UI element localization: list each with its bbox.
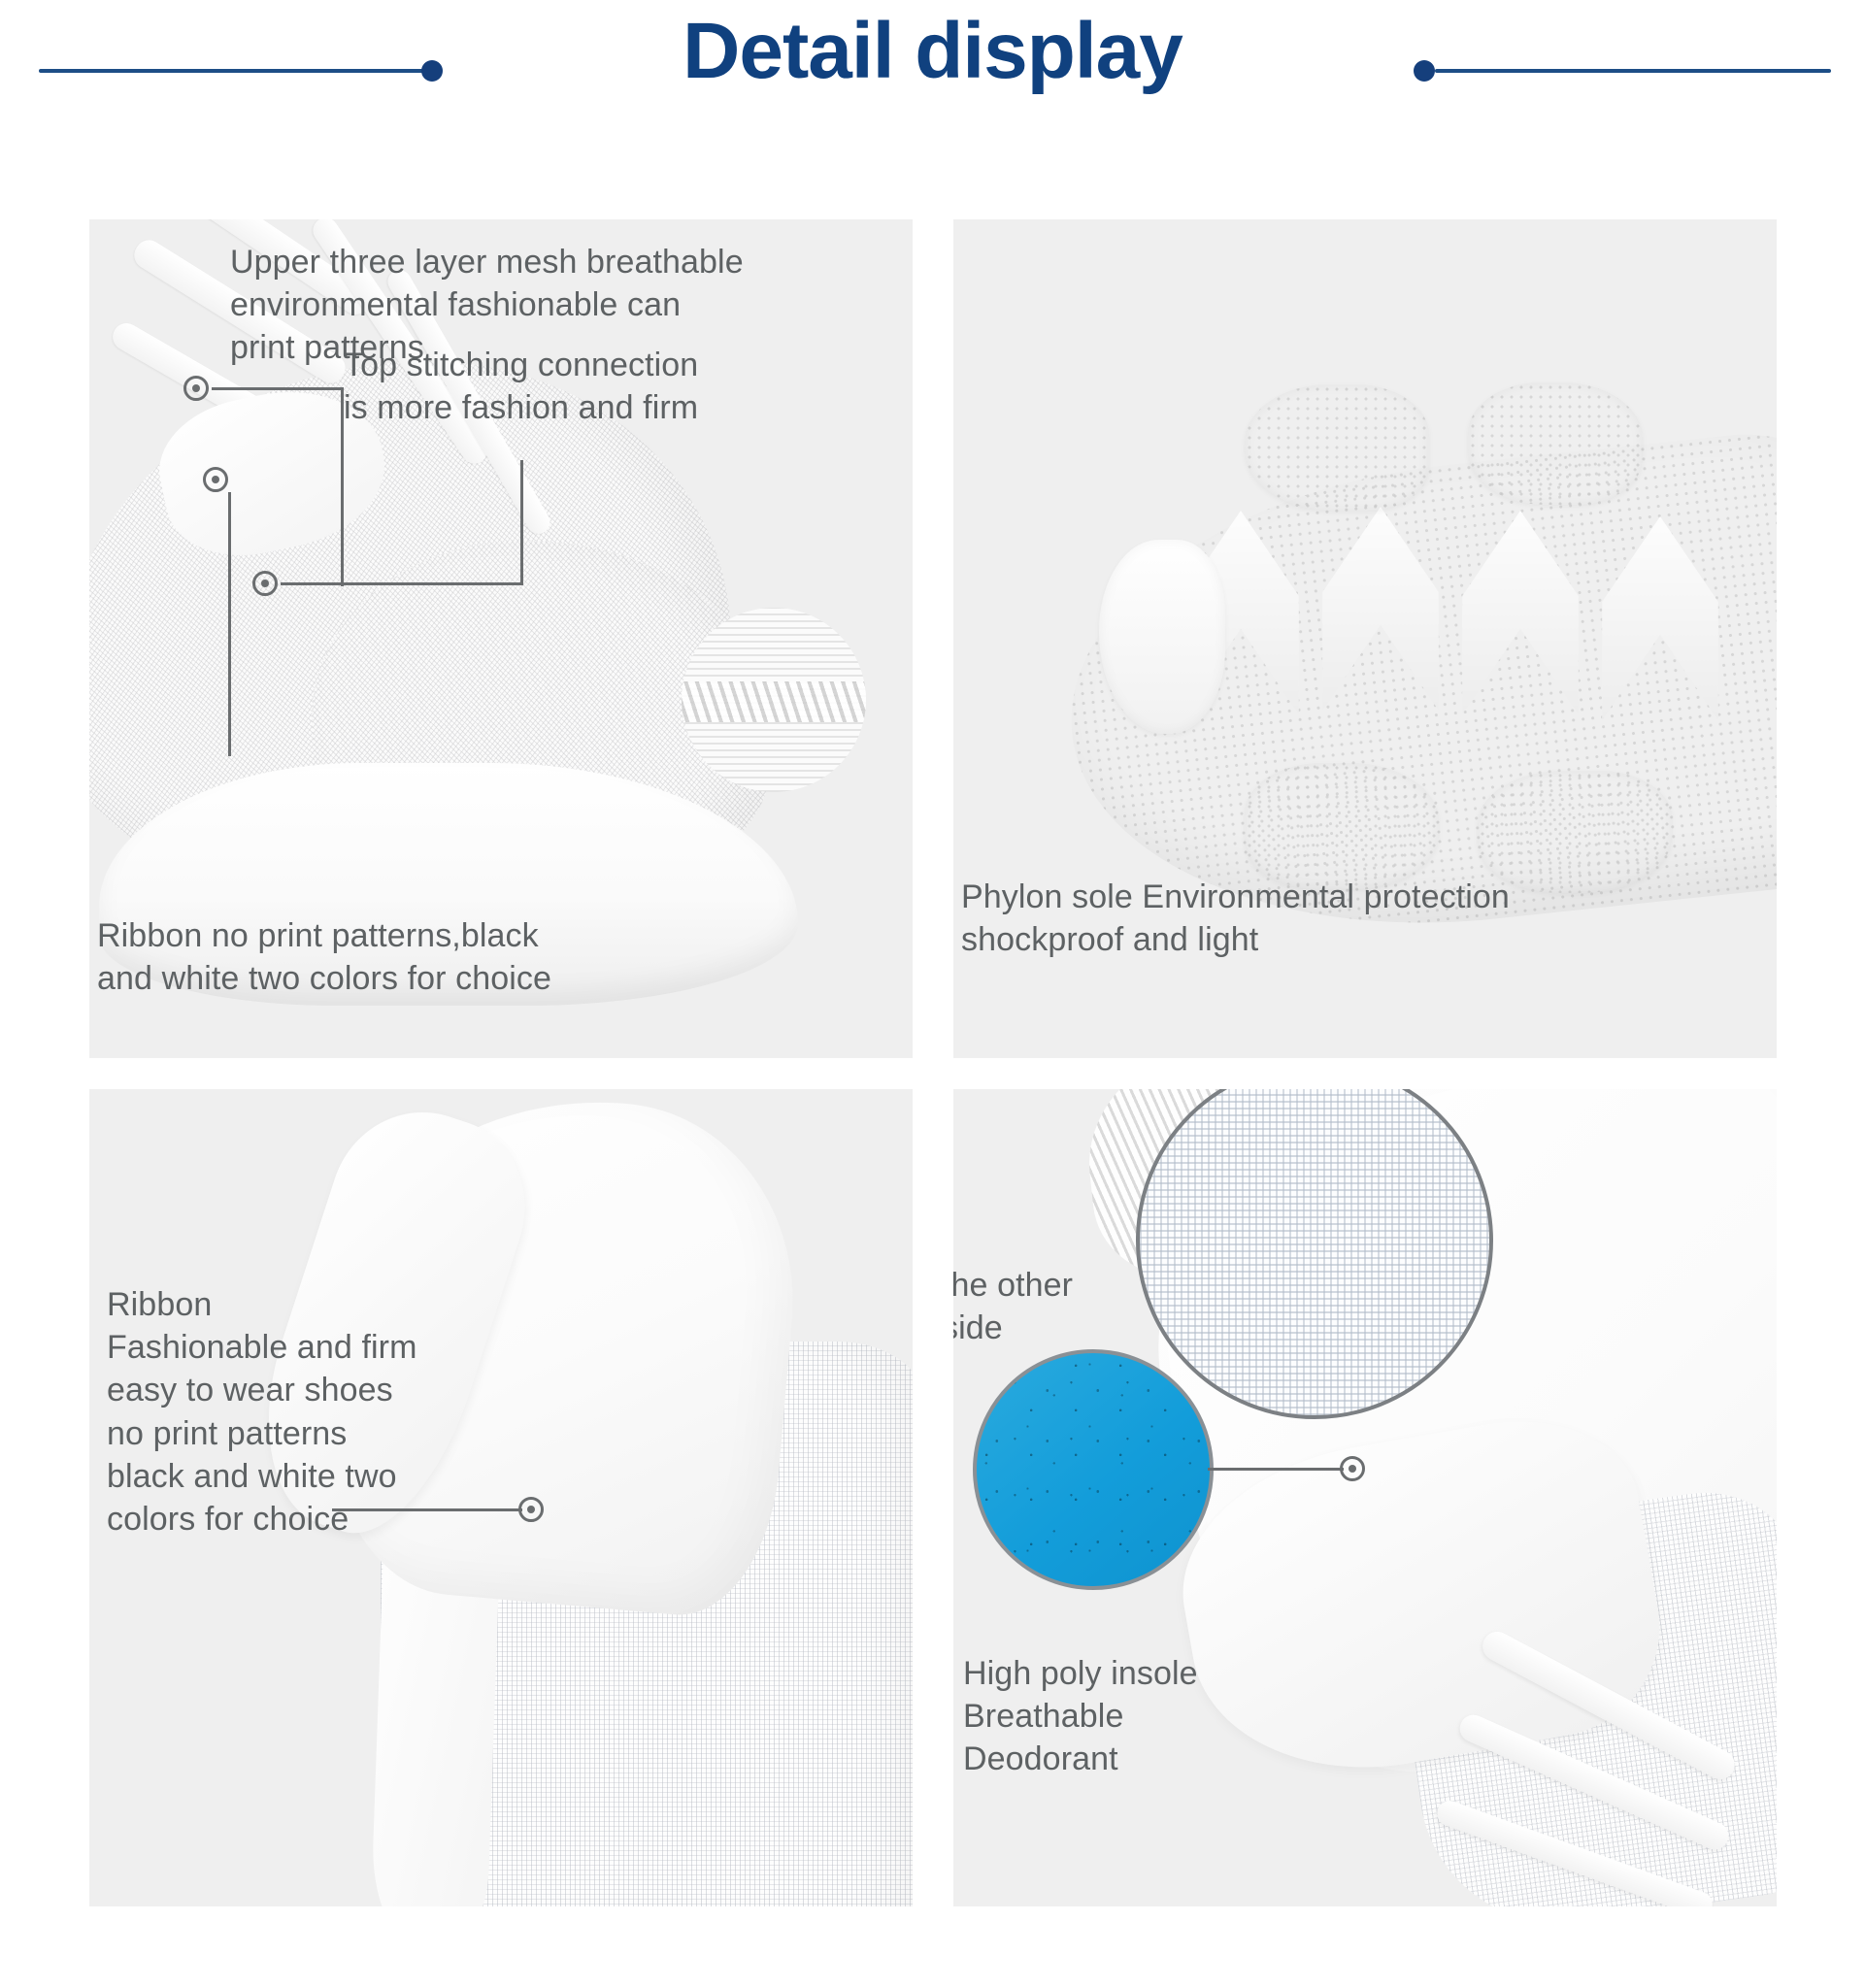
stitching-closeup-circle bbox=[682, 608, 866, 792]
note-top-stitching: Top stitching connection is more fashion… bbox=[344, 344, 800, 429]
callout-marker-stitching[interactable] bbox=[252, 571, 278, 596]
stitch-band bbox=[682, 681, 866, 722]
tread-forefoot-pad bbox=[1245, 384, 1429, 511]
leader-heel-ribbon bbox=[332, 1508, 522, 1511]
panel-phylon-sole: Phylon sole Environmental protection sho… bbox=[953, 219, 1777, 1058]
leader-stitching-horizontal bbox=[281, 582, 523, 585]
note-high-poly-insole: High poly insole Breathable Deodorant bbox=[963, 1652, 1371, 1781]
leader-insole bbox=[1208, 1468, 1344, 1471]
leader-stitching-vertical bbox=[520, 460, 523, 585]
tread-rear-pad bbox=[1245, 763, 1439, 889]
leader-upper-vertical bbox=[341, 387, 344, 586]
panel-heel-ribbon: Ribbon Fashionable and firm easy to wear… bbox=[89, 1089, 913, 1906]
header-rule-right bbox=[1435, 69, 1831, 73]
note-heel-ribbon: Ribbon Fashionable and firm easy to wear… bbox=[107, 1283, 515, 1541]
insole-blue-swatch bbox=[973, 1349, 1214, 1590]
page-title: Detail display bbox=[0, 6, 1865, 97]
detail-display-page: Detail display Upper three layer mesh br… bbox=[0, 0, 1865, 1988]
tread-forefoot-pad bbox=[1468, 382, 1643, 505]
panel-insole: the other side High poly insole Breathab… bbox=[953, 1089, 1777, 1906]
leader-upper-horizontal bbox=[212, 387, 344, 390]
panel-upper-mesh: Upper three layer mesh breathable enviro… bbox=[89, 219, 913, 1058]
leader-ribbon-vertical bbox=[228, 492, 231, 756]
page-header: Detail display bbox=[0, 0, 1865, 155]
callout-marker-ribbon[interactable] bbox=[203, 467, 228, 492]
note-other-side: the other side bbox=[953, 1264, 1184, 1349]
callout-marker-upper[interactable] bbox=[183, 376, 209, 401]
header-dot-right bbox=[1414, 60, 1435, 82]
note-phylon-sole: Phylon sole Environmental protection sho… bbox=[961, 876, 1757, 961]
note-ribbon: Ribbon no print patterns,black and white… bbox=[97, 914, 621, 1000]
